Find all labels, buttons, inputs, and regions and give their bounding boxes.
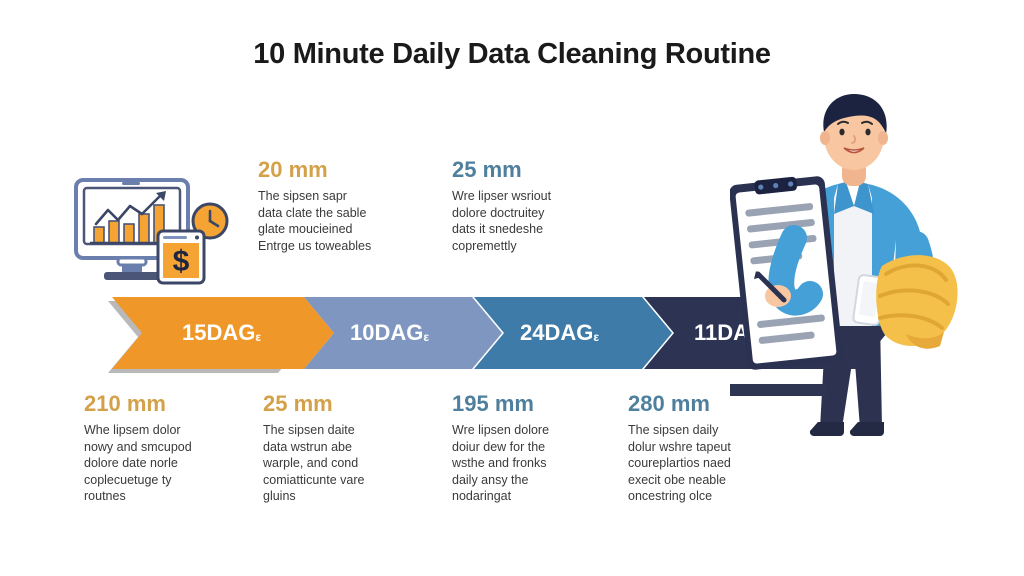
page-title: 10 Minute Daily Data Cleaning Routine — [0, 38, 1024, 71]
top-text-block-1: 20 mm The sipsen sapr data clate the sab… — [258, 158, 408, 254]
svg-text:$: $ — [173, 245, 190, 278]
top-block-2-heading: 25 mm — [452, 158, 602, 181]
bottom-block-1-body: Whe lipsem dolor nowy and smcupod dolore… — [84, 422, 244, 505]
bottom-block-3-body: Wre lipsen dolore doiur dew for the wsth… — [452, 422, 612, 505]
man-with-clipboard-illustration — [730, 88, 965, 438]
top-block-1-heading: 20 mm — [258, 158, 408, 181]
bottom-text-block-2: 25 mm The sipsen daite data wstrun abe w… — [263, 392, 423, 505]
dollar-tablet-icon: $ — [158, 231, 204, 283]
bottom-block-1-heading: 210 mm — [84, 392, 244, 415]
bottom-text-block-1: 210 mm Whe lipsem dolor nowy and smcupod… — [84, 392, 244, 505]
top-text-block-2: 25 mm Wre lipser wsriout dolore doctruit… — [452, 158, 602, 254]
bottom-text-block-3: 195 mm Wre lipsen dolore doiur dew for t… — [452, 392, 612, 505]
desk-edge — [730, 384, 826, 396]
monitor-chart-dollar-clock-illustration: $ — [62, 176, 242, 288]
chevron-step-3-sublabel: ε — [593, 330, 599, 344]
chevron-step-1[interactable]: 15DAG ε — [112, 297, 334, 369]
bottom-block-2-body: The sipsen daite data wstrun abe warple,… — [263, 422, 423, 505]
top-block-1-body: The sipsen sapr data clate the sable gla… — [258, 188, 408, 254]
chevron-step-1-label: 15DAG — [182, 320, 255, 346]
chevron-step-3-label: 24DAG — [520, 320, 593, 346]
person-shoes — [810, 422, 884, 436]
chevron-step-2-label: 10DAG — [350, 320, 423, 346]
top-block-2-body: Wre lipser wsriout dolore doctruitey dat… — [452, 188, 602, 254]
chevron-step-2-sublabel: ε — [423, 330, 429, 344]
bottom-block-2-heading: 25 mm — [263, 392, 423, 415]
person-head — [820, 94, 888, 186]
chevron-step-1-sublabel: ε — [255, 330, 261, 344]
folder-icon — [876, 255, 957, 349]
chevron-step-3[interactable]: 24DAG ε — [474, 297, 672, 369]
bottom-block-3-heading: 195 mm — [452, 392, 612, 415]
